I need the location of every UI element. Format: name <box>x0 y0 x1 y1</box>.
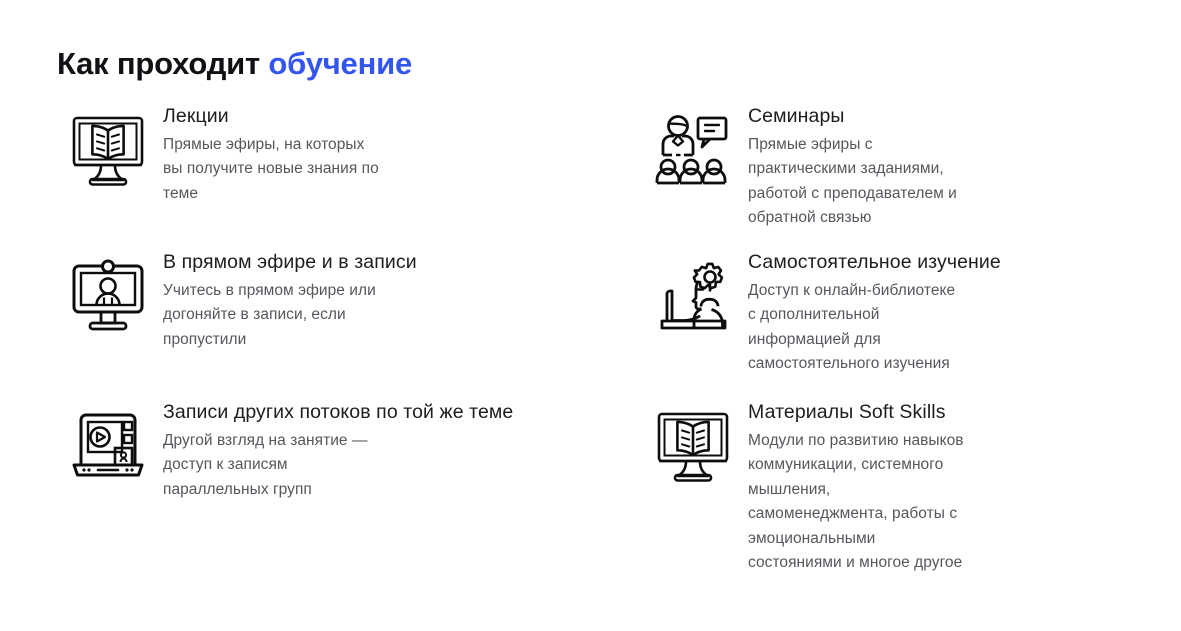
feature-description-line: самостоятельного изучения <box>748 352 1095 376</box>
monitor-open-book-icon <box>653 406 733 486</box>
feature-description-line: Модули по развитию навыков <box>748 429 1095 453</box>
feature-description: Прямые эфиры спрактическими заданиями,ра… <box>748 133 1095 231</box>
feature-description: Модули по развитию навыковкоммуникации, … <box>748 429 1095 576</box>
feature-body: Материалы Soft SkillsМодули по развитию … <box>733 400 1095 576</box>
feature-item: СеминарыПрямые эфиры спрактическими зада… <box>0 104 1125 250</box>
feature-description-line: эмоциональными <box>748 527 1095 551</box>
feature-description: Доступ к онлайн-библиотекес дополнительн… <box>748 279 1095 377</box>
feature-description-line: Доступ к онлайн-библиотеке <box>748 279 1095 303</box>
feature-body: СеминарыПрямые эфиры спрактическими зада… <box>733 104 1095 231</box>
feature-item: Материалы Soft SkillsМодули по развитию … <box>0 400 1125 576</box>
feature-description-line: информацией для <box>748 328 1095 352</box>
page-title-plain: Как проходит <box>57 46 268 81</box>
feature-description-line: самоменеджмента, работы с <box>748 502 1095 526</box>
feature-item: Самостоятельное изучениеДоступ к онлайн-… <box>0 250 1125 400</box>
presenter-audience-icon <box>653 110 733 190</box>
feature-description-line: с дополнительной <box>748 303 1095 327</box>
feature-title: Материалы Soft Skills <box>748 400 1095 426</box>
person-laptop-gear-icon <box>653 256 733 336</box>
feature-grid: ЛекцииПрямые эфиры, на которыхвы получит… <box>0 104 1181 576</box>
learning-process-section: Как проходит обучение ЛекцииПрямые эфиры… <box>0 0 1181 631</box>
feature-description-line: Прямые эфиры с <box>748 133 1095 157</box>
feature-description-line: мышления, <box>748 478 1095 502</box>
feature-description-line: работой с преподавателем и <box>748 182 1095 206</box>
page-title-accent: обучение <box>268 46 412 81</box>
feature-description-line: коммуникации, системного <box>748 453 1095 477</box>
page-title: Как проходит обучение <box>57 45 412 82</box>
feature-description-line: обратной связью <box>748 206 1095 230</box>
feature-title: Самостоятельное изучение <box>748 250 1095 276</box>
feature-body: Самостоятельное изучениеДоступ к онлайн-… <box>733 250 1095 377</box>
feature-description-line: практическими заданиями, <box>748 157 1095 181</box>
feature-description-line: состояниями и многое другое <box>748 551 1095 575</box>
feature-title: Семинары <box>748 104 1095 130</box>
